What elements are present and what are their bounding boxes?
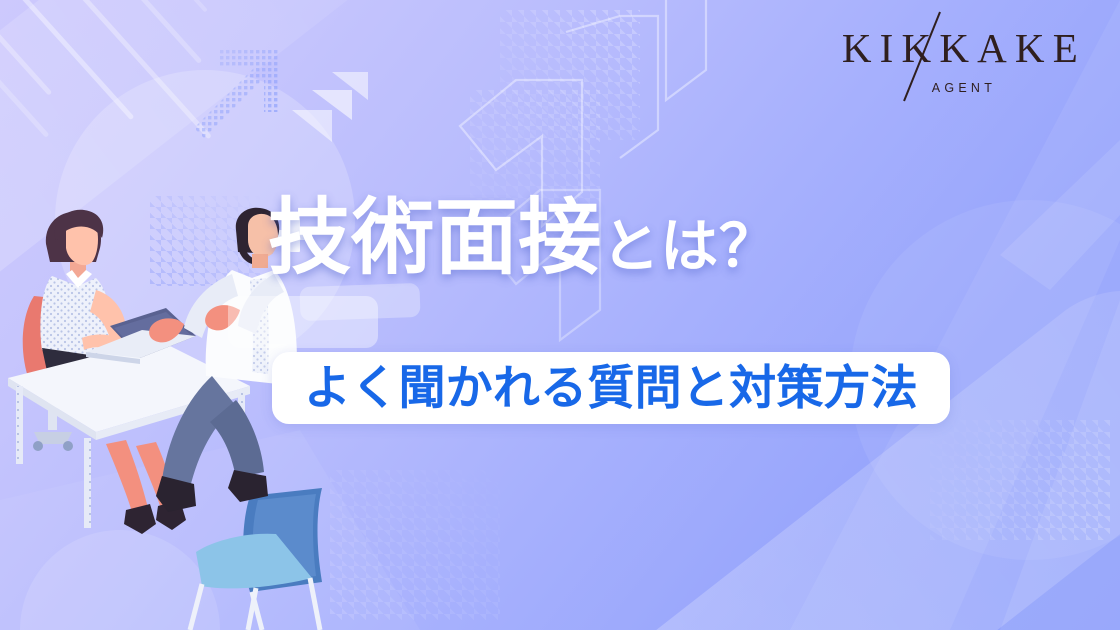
page-title-suffix: とは？	[602, 212, 778, 280]
logo-tagline: AGENT	[842, 81, 1086, 95]
page-title: 技術面接とは？	[268, 196, 908, 279]
speech-bubble-primary	[228, 296, 378, 348]
page-title-main: 技術面接	[268, 189, 602, 286]
light-triangle-group	[282, 62, 422, 172]
subtitle-pill: よく聞かれる質問と対策方法	[272, 352, 950, 424]
logo-wordmark-text: KIKKAKE	[842, 25, 1086, 71]
subtitle-text: よく聞かれる質問と対策方法	[304, 365, 918, 412]
banner-canvas: KIKKAKE AGENT 技術面接とは？ よく聞かれる質問と対策方法	[0, 0, 1120, 630]
brand-logo[interactable]: KIKKAKE AGENT	[842, 28, 1086, 95]
logo-wordmark: KIKKAKE	[842, 28, 1086, 69]
halftone-arrow-icon	[160, 38, 290, 168]
